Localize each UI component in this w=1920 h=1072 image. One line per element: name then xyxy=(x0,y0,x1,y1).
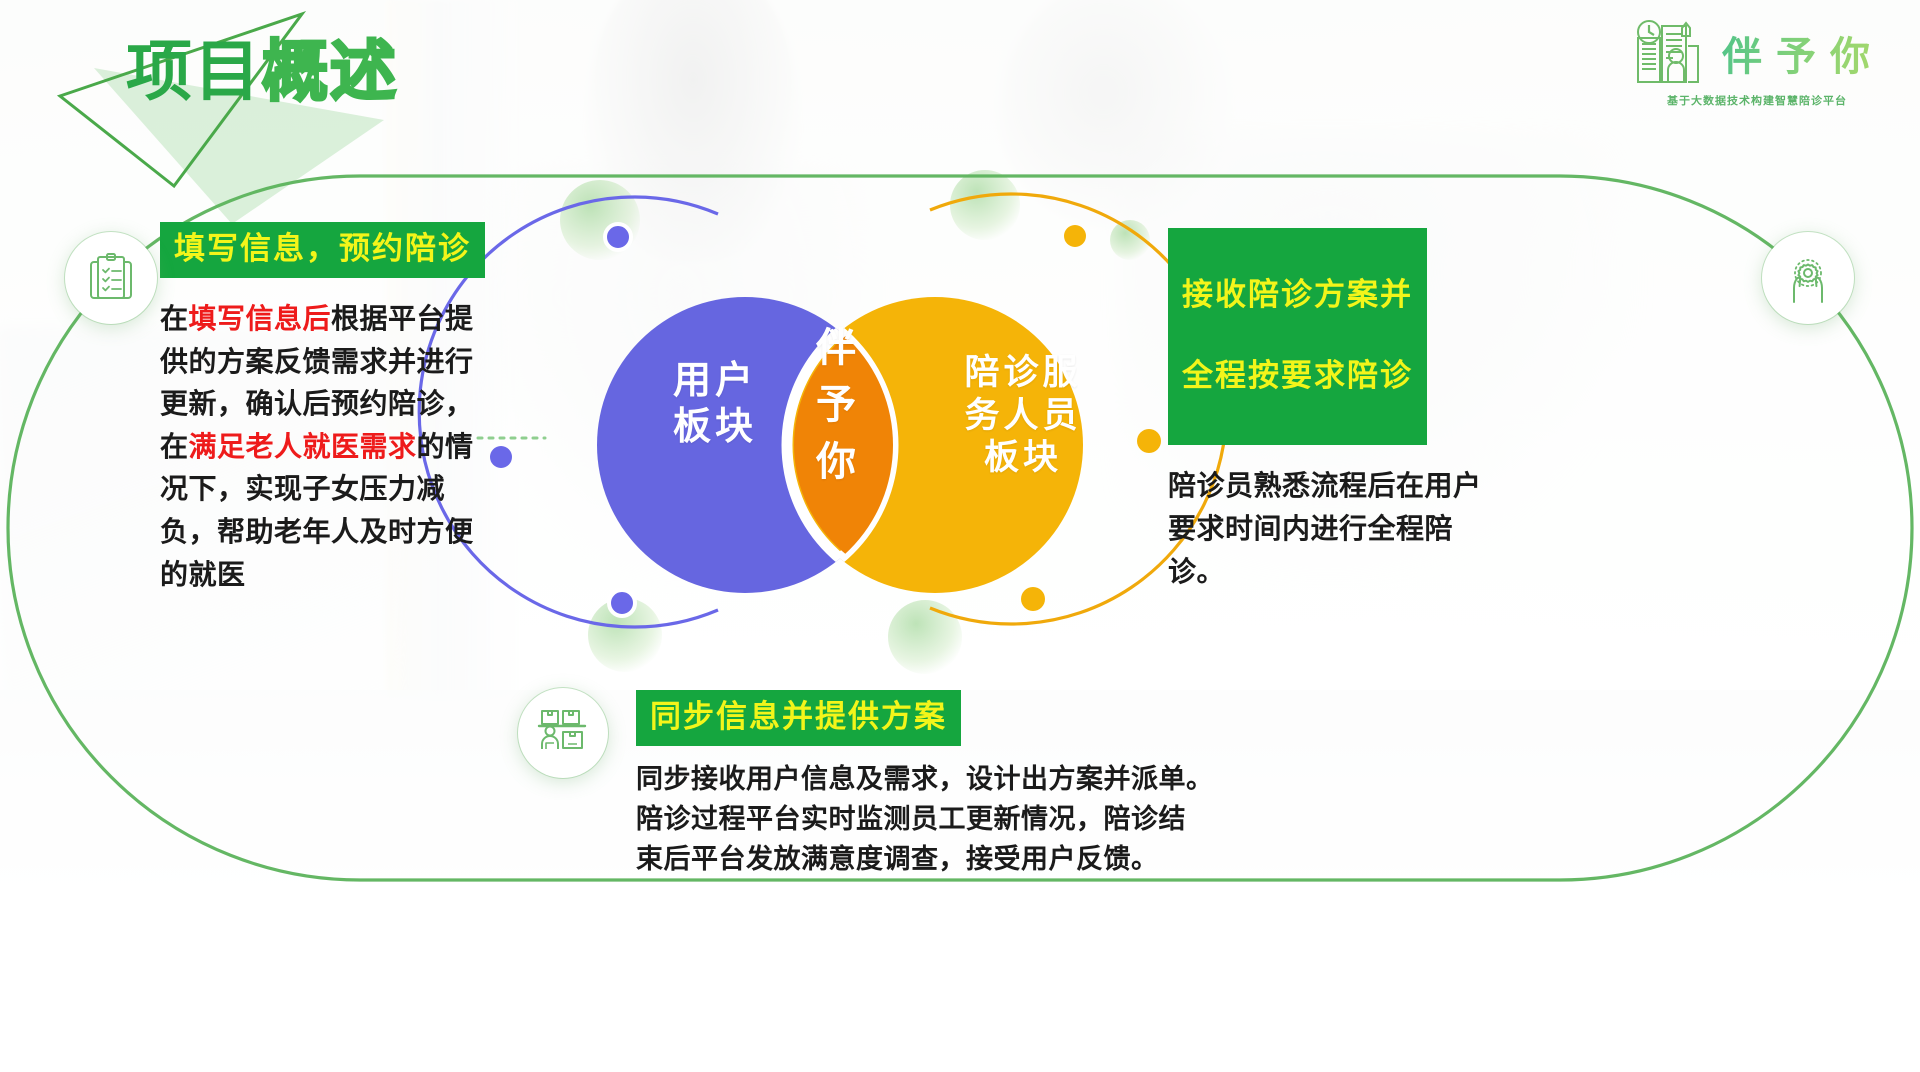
section-bottom-heading: 同步信息并提供方案 xyxy=(636,690,961,746)
section-right-heading-line2: 全程按要求陪诊 xyxy=(1182,356,1413,396)
warehouse-shelf-person-icon xyxy=(537,708,589,758)
badge-right[interactable] xyxy=(1762,232,1854,324)
slide-canvas: 项目概述 伴予你 基于大数据技术构建智慧陪诊平台 xyxy=(0,0,1920,1072)
venn-diagram xyxy=(560,245,1120,645)
section-right: 接收陪诊方案并 全程按要求陪诊 陪诊员熟悉流程后在用户要求时间内进行全程陪诊。 xyxy=(1168,228,1498,593)
section-bottom-body: 同步接收用户信息及需求，设计出方案并派单。 陪诊过程平台实时监测员工更新情况，陪… xyxy=(636,760,1316,880)
brand-logo-name: 伴予你 xyxy=(1716,24,1884,82)
section-right-heading: 接收陪诊方案并 全程按要求陪诊 xyxy=(1168,228,1427,445)
page-title-solid: 项目 xyxy=(126,34,262,108)
page-title-hollow: 概述 xyxy=(262,34,398,108)
brand-logo-row: 伴予你 xyxy=(1630,16,1884,90)
run-highlight-2: 满足老人就医需求 xyxy=(189,431,417,462)
badge-bottom[interactable] xyxy=(518,688,608,778)
section-bottom: 同步信息并提供方案 同步接收用户信息及需求，设计出方案并派单。 陪诊过程平台实时… xyxy=(636,690,1316,880)
hands-gear-icon xyxy=(1782,252,1834,304)
section-bottom-body-line2: 陪诊过程平台实时监测员工更新情况，陪诊结 xyxy=(636,800,1316,840)
section-left-body: 在填写信息后根据平台提供的方案反馈需求并进行更新，确认后预约陪诊，在满足老人就医… xyxy=(160,298,490,596)
clipboard-checklist-icon xyxy=(86,253,136,303)
section-right-heading-line1: 接收陪诊方案并 xyxy=(1182,275,1413,315)
section-left-heading: 填写信息，预约陪诊 xyxy=(160,222,485,278)
badge-left[interactable] xyxy=(65,232,157,324)
brand-logo: 伴予你 基于大数据技术构建智慧陪诊平台 xyxy=(1630,16,1884,108)
section-left: 填写信息，预约陪诊 在填写信息后根据平台提供的方案反馈需求并进行更新，确认后预约… xyxy=(160,222,490,596)
section-bottom-body-line1: 同步接收用户信息及需求，设计出方案并派单。 xyxy=(636,760,1316,800)
hospital-clock-people-icon xyxy=(1630,16,1706,90)
run-plain-1: 在 xyxy=(160,303,189,334)
brand-logo-tagline: 基于大数据技术构建智慧陪诊平台 xyxy=(1667,92,1847,107)
run-highlight-1: 填写信息后 xyxy=(189,303,332,334)
section-bottom-body-line3: 束后平台发放满意度调查，接受用户反馈。 xyxy=(636,840,1316,880)
section-right-body: 陪诊员熟悉流程后在用户要求时间内进行全程陪诊。 xyxy=(1168,465,1498,593)
page-title: 项目概述 xyxy=(126,38,398,104)
